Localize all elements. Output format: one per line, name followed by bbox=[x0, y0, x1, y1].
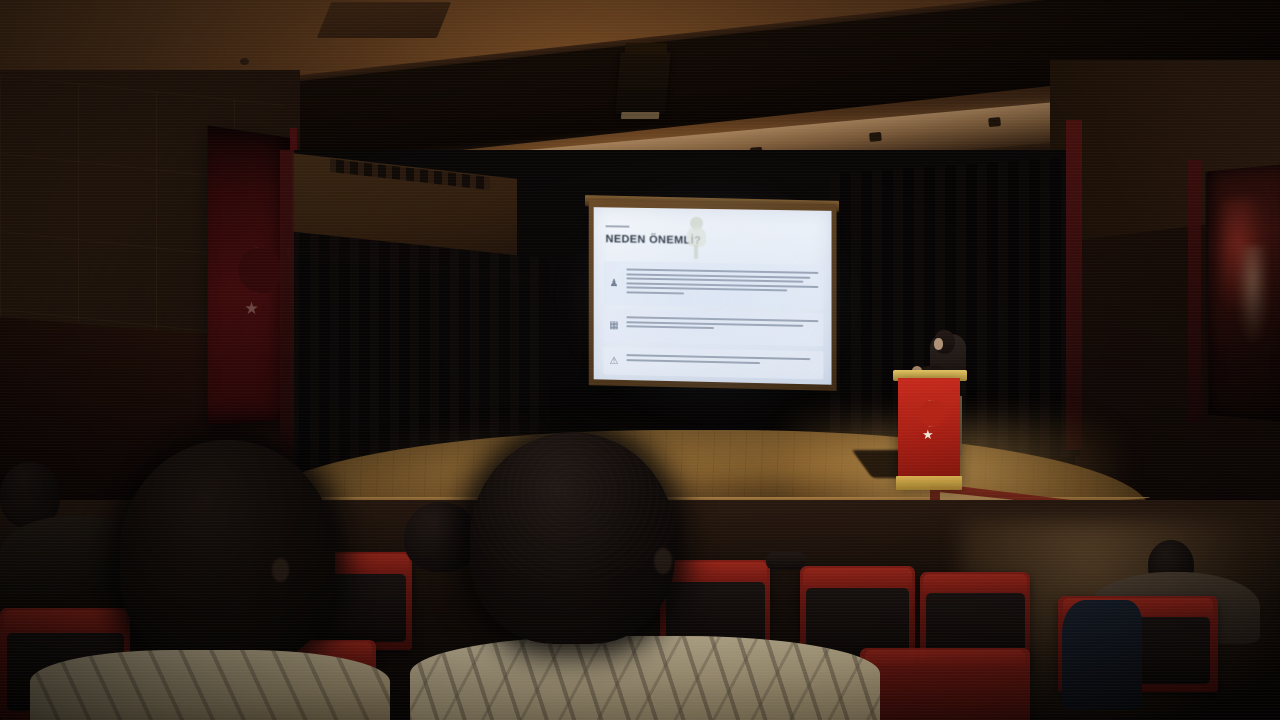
projection-screen: NEDEN ÖNEMLİ? ♟ ▦ bbox=[594, 207, 832, 385]
seated-viewer-legs bbox=[1062, 600, 1142, 710]
wall-poster bbox=[1206, 164, 1280, 421]
seat-top-band bbox=[4, 610, 126, 635]
poster-frame bbox=[1188, 160, 1201, 422]
ceiling-light bbox=[240, 58, 249, 65]
seated-viewer-head bbox=[404, 502, 478, 572]
emblem-stem bbox=[694, 245, 698, 259]
building-icon: ▦ bbox=[608, 314, 621, 337]
slide-content-row: ⚠ bbox=[604, 347, 824, 380]
crescent-icon bbox=[912, 400, 939, 427]
foreground-viewer-left-head bbox=[120, 440, 335, 665]
slide-emblem-icon bbox=[683, 215, 709, 261]
star-icon: ★ bbox=[244, 300, 259, 317]
speaker-face bbox=[934, 338, 943, 350]
foreground-viewer-left-shirt-pattern bbox=[30, 650, 390, 720]
seat-top-band bbox=[923, 574, 1026, 595]
slide-row-text bbox=[626, 314, 818, 341]
podium-base bbox=[896, 476, 962, 490]
crescent-icon bbox=[228, 245, 272, 293]
projector-lens bbox=[621, 112, 660, 119]
proscenium-right bbox=[1066, 120, 1082, 450]
slide-rule bbox=[606, 225, 630, 227]
seat[interactable] bbox=[860, 648, 1030, 720]
slide-content-row: ▦ bbox=[604, 309, 824, 347]
foreground-viewer-hair bbox=[470, 432, 675, 582]
seat-armrest bbox=[766, 552, 806, 570]
projection-screen-frame: NEDEN ÖNEMLİ? ♟ ▦ bbox=[589, 200, 837, 391]
auditorium-scene: ★ NEDEN ÖNEMLİ? ♟ bbox=[0, 0, 1280, 720]
foreground-viewer-shirt-pattern bbox=[410, 636, 880, 720]
foreground-viewer-ear bbox=[654, 548, 672, 574]
seat-top-band bbox=[865, 650, 1025, 667]
seat-top-band bbox=[663, 562, 766, 584]
ceiling-mounted-projector bbox=[615, 52, 670, 114]
soffit-light bbox=[869, 132, 882, 142]
foreground-viewer-left-ear bbox=[272, 558, 289, 582]
seat-top-band bbox=[803, 568, 911, 590]
star-icon: ★ bbox=[922, 428, 934, 441]
warning-icon: ⚠ bbox=[608, 352, 621, 370]
poster-figure bbox=[1236, 245, 1269, 343]
slide-content-row: ♟ bbox=[604, 261, 824, 309]
slide-row-text bbox=[626, 266, 818, 304]
slide-row-text bbox=[626, 352, 818, 374]
soffit-light bbox=[988, 117, 1001, 127]
ceiling-vent bbox=[317, 2, 452, 38]
person-icon: ♟ bbox=[608, 266, 621, 300]
podium: ★ bbox=[898, 378, 960, 482]
